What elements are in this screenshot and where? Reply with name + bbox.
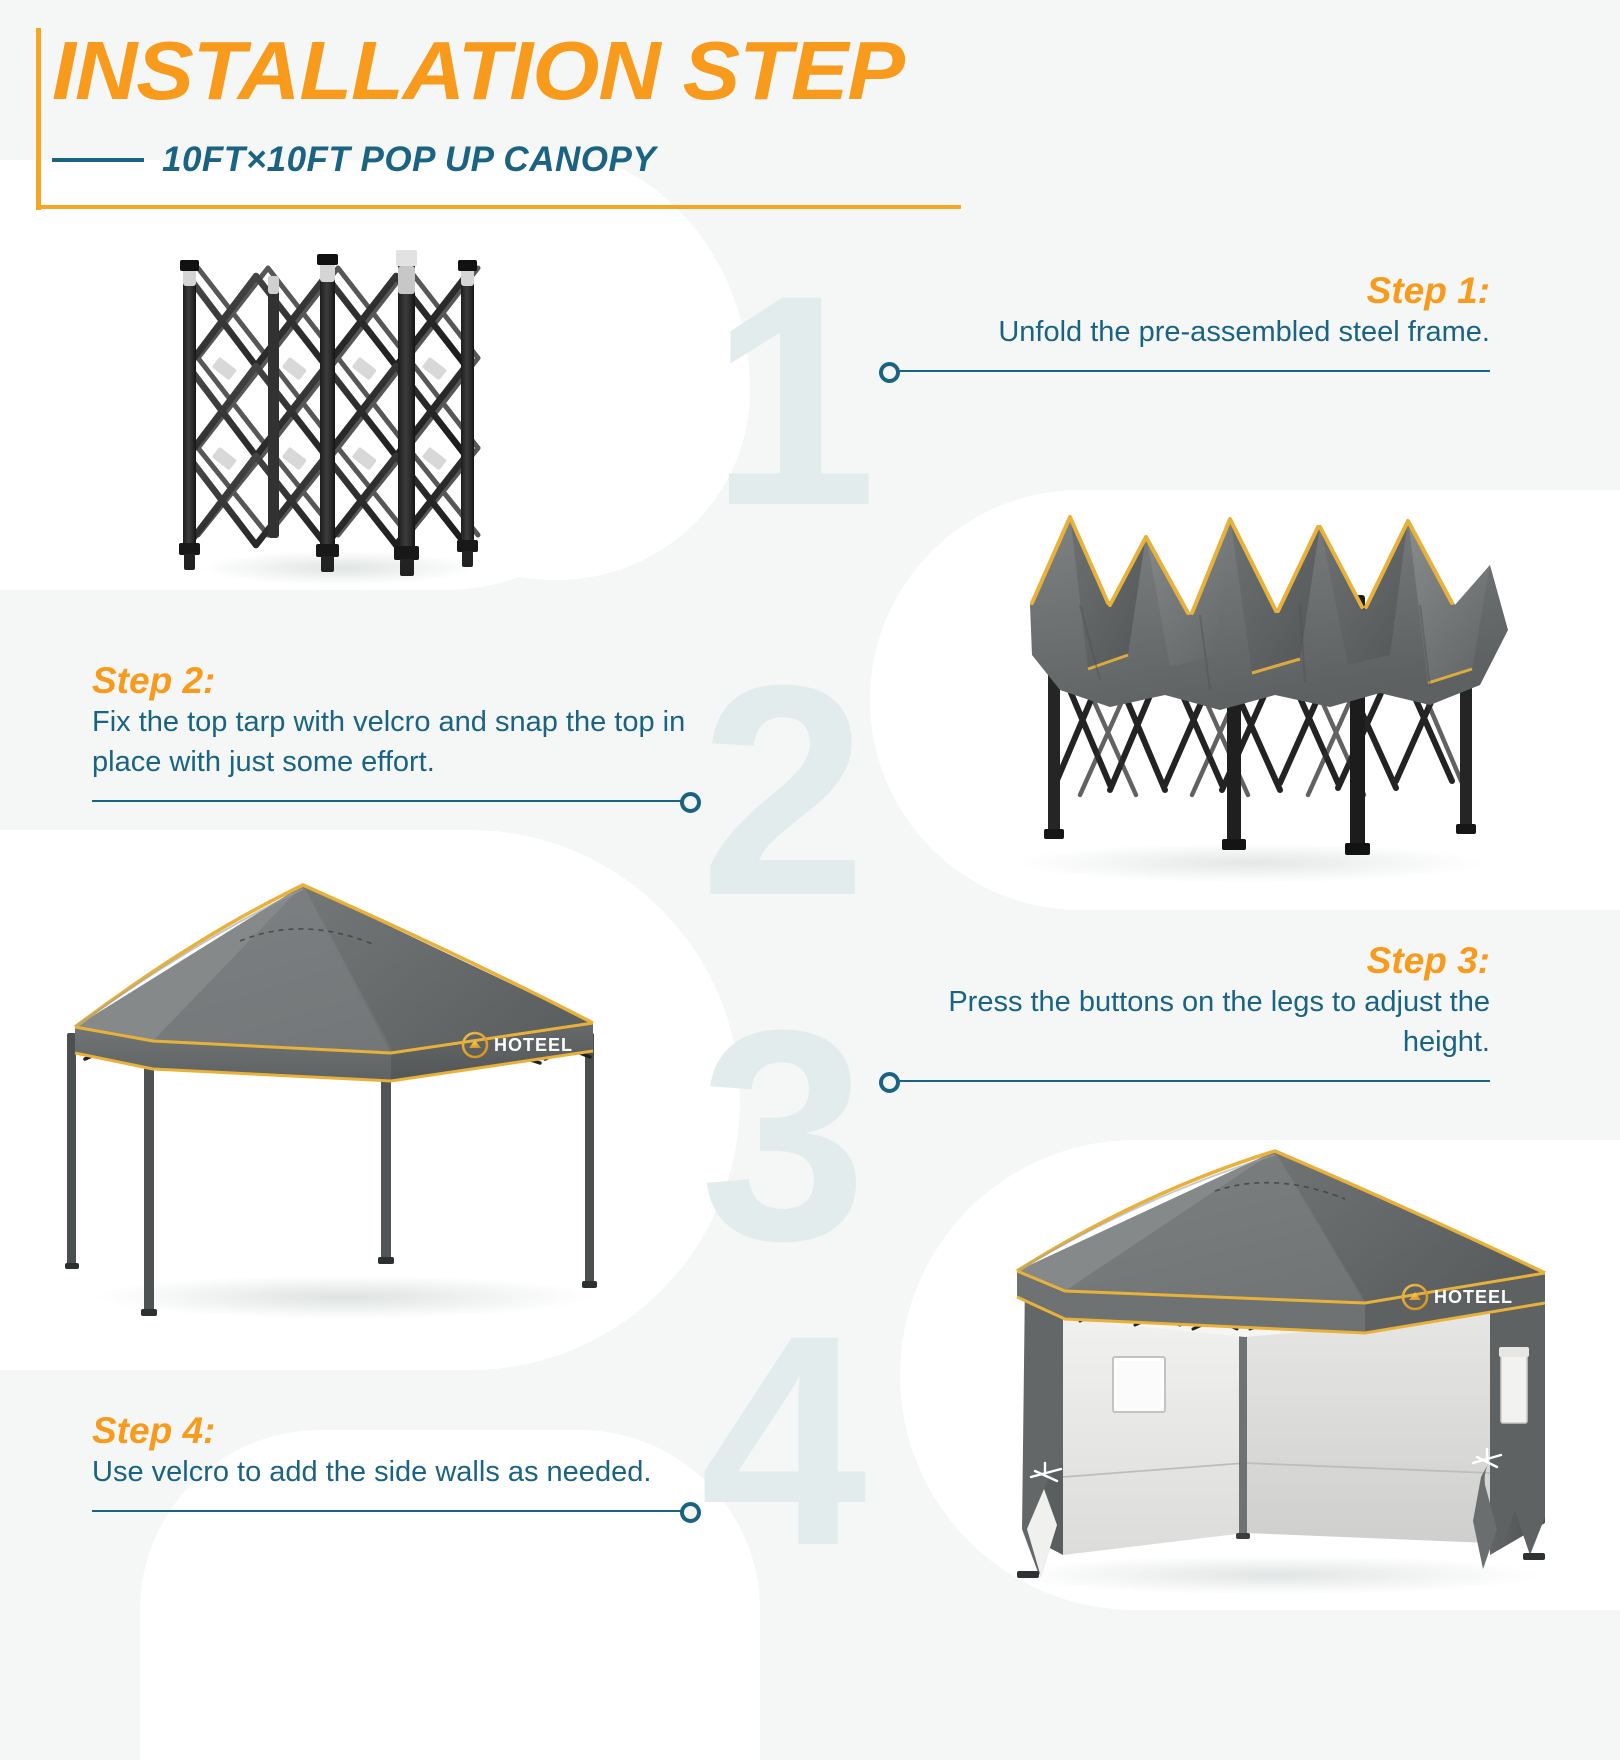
- step-1-description: Unfold the pre-assembled steel frame.: [880, 312, 1490, 352]
- subtitle-dash: [52, 158, 144, 162]
- page-title: INSTALLATION STEP: [52, 28, 904, 114]
- step-2-connector-line: [92, 800, 692, 802]
- step-4-description: Use velcro to add the side walls as need…: [92, 1452, 702, 1492]
- subtitle-group: 10FT×10FT POP UP CANOPY: [52, 140, 656, 180]
- watermark-number-2: 2: [700, 640, 867, 940]
- step-4-label: Step 4:: [92, 1410, 702, 1452]
- step-3-description: Press the buttons on the legs to adjust …: [880, 982, 1490, 1062]
- svg-text:HOTEEL: HOTEEL: [1434, 1287, 1513, 1307]
- step-2-connector: [92, 790, 702, 812]
- watermark-number-3: 3: [700, 985, 867, 1285]
- step-3-connector-dot: [879, 1072, 900, 1093]
- step-4-connector: [92, 1500, 702, 1522]
- step-1-connector: [880, 360, 1490, 382]
- step-4-connector-line: [92, 1510, 692, 1512]
- header-vertical-rule: [36, 28, 41, 210]
- step-2-description: Fix the top tarp with velcro and snap th…: [92, 702, 702, 782]
- frame-with-draped-tarp-svg: [960, 455, 1530, 885]
- step-2-text-block: Step 2: Fix the top tarp with velcro and…: [92, 660, 702, 812]
- watermark-number-4: 4: [700, 1290, 867, 1590]
- header-horizontal-rule: [36, 205, 961, 209]
- step-1-label: Step 1:: [880, 270, 1490, 312]
- step-3-connector: [880, 1070, 1490, 1092]
- step-4-connector-dot: [680, 1502, 701, 1523]
- step-1-illustration: [150, 230, 530, 590]
- folded-steel-frame-svg: [150, 230, 530, 590]
- step-1-connector-dot: [879, 362, 900, 383]
- step-1-text-block: Step 1: Unfold the pre-assembled steel f…: [880, 270, 1490, 382]
- step-4-illustration: HOTEEL: [945, 1125, 1585, 1595]
- step-4-text-block: Step 4: Use velcro to add the side walls…: [92, 1410, 702, 1522]
- page-subtitle: 10FT×10FT POP UP CANOPY: [162, 140, 656, 180]
- erected-canopy-svg: HOTEEL: [45, 845, 620, 1325]
- step-2-label: Step 2:: [92, 660, 702, 702]
- step-3-connector-line: [890, 1080, 1490, 1082]
- canopy-with-side-walls-svg: HOTEEL: [945, 1125, 1585, 1595]
- step-1-connector-line: [890, 370, 1490, 372]
- step-3-label: Step 3:: [880, 940, 1490, 982]
- svg-text:HOTEEL: HOTEEL: [494, 1035, 573, 1055]
- watermark-number-1: 1: [710, 250, 877, 550]
- step-2-illustration: [960, 455, 1530, 885]
- step-3-text-block: Step 3: Press the buttons on the legs to…: [880, 940, 1490, 1092]
- step-3-illustration: HOTEEL: [45, 845, 620, 1325]
- step-2-connector-dot: [680, 792, 701, 813]
- page-header: INSTALLATION STEP 10FT×10FT POP UP CANOP…: [0, 0, 1620, 215]
